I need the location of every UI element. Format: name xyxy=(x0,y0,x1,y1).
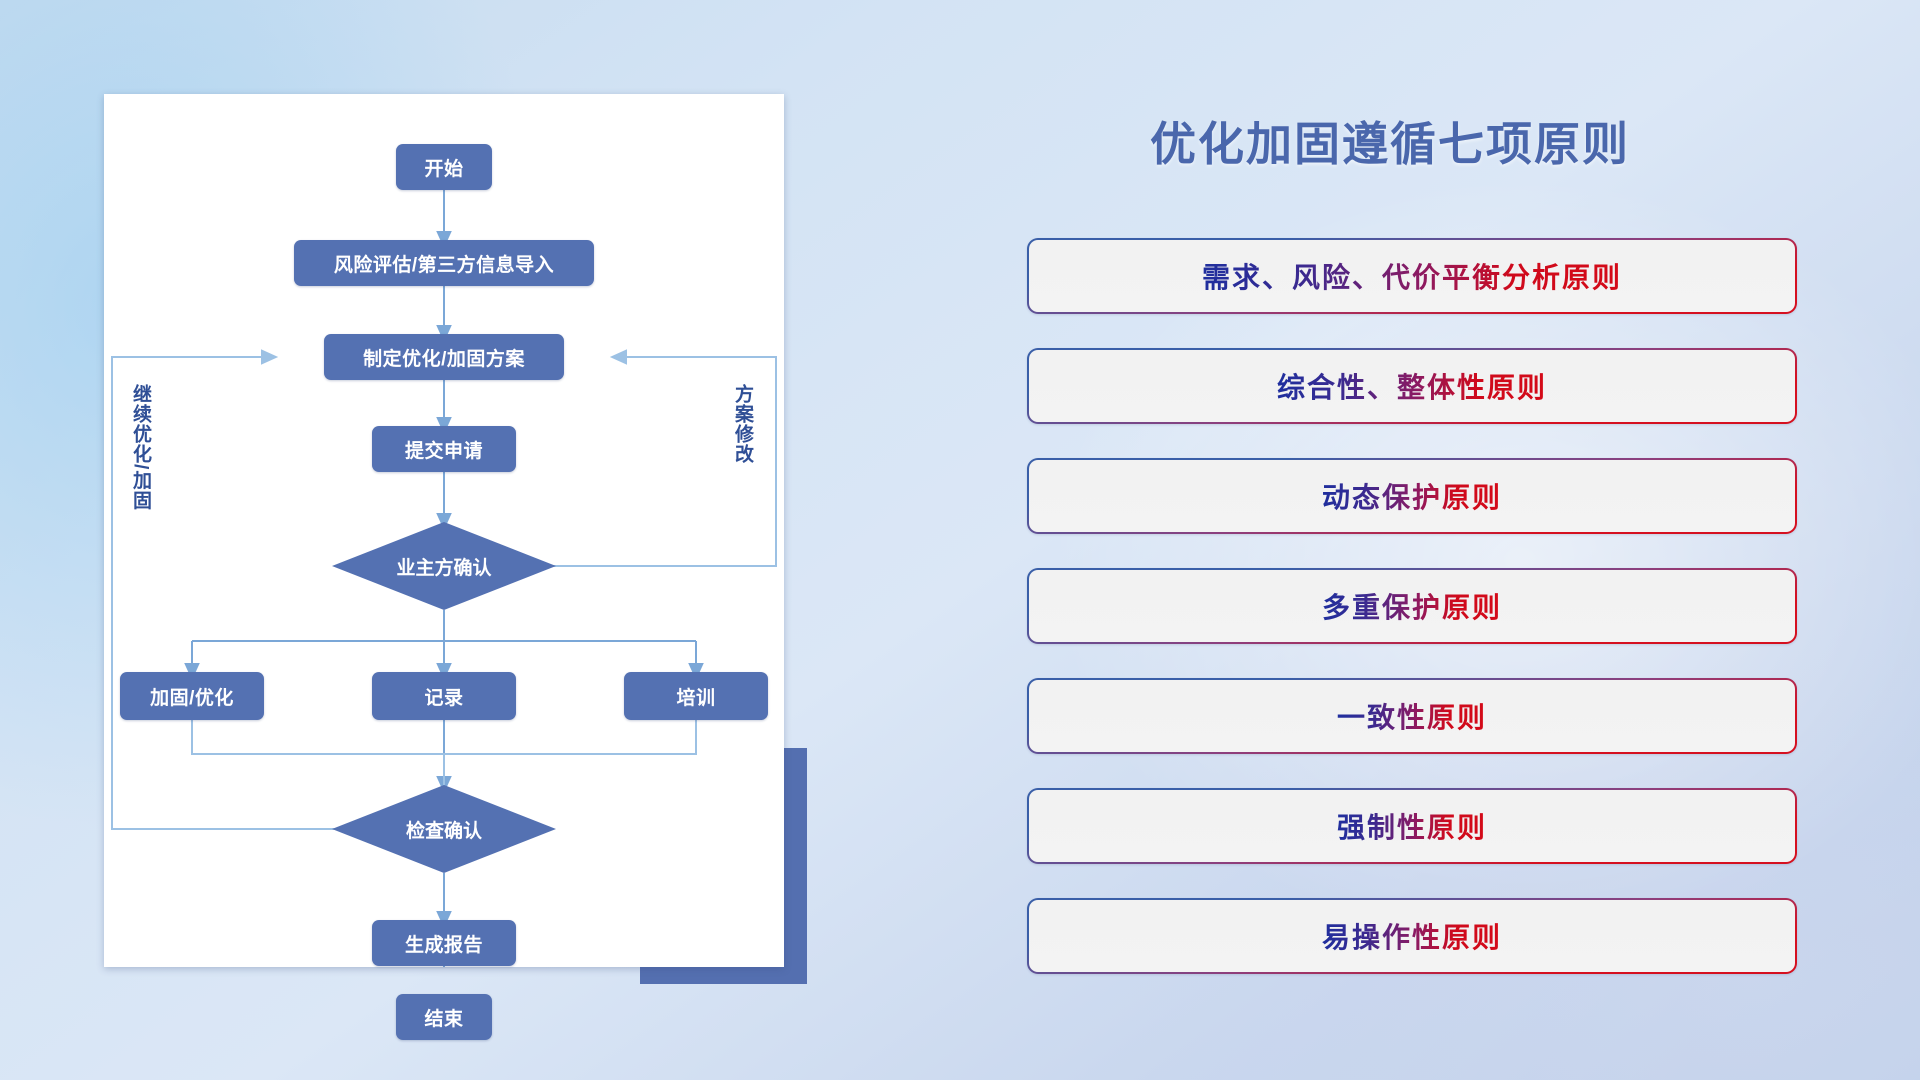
principle-label: 需求、风险、代价平衡分析原则 xyxy=(1202,256,1622,296)
principle-label: 多重保护原则 xyxy=(1322,586,1502,626)
principle-card-1[interactable]: 需求、风险、代价平衡分析原则 xyxy=(1027,238,1797,314)
flow-node-label: 培训 xyxy=(676,683,715,710)
flow-node-label: 结束 xyxy=(424,1004,463,1031)
flow-node-label: 记录 xyxy=(424,683,463,710)
principle-label: 易操作性原则 xyxy=(1322,916,1502,956)
page-title: 优化加固遵循七项原则 xyxy=(1150,108,1630,174)
principle-label: 一致性原则 xyxy=(1337,696,1487,736)
flow-node-label: 检查确认 xyxy=(406,816,482,843)
flowchart: 开始 风险评估/第三方信息导入 制定优化/加固方案 提交申请 业主方确认 加固/… xyxy=(104,94,784,967)
flow-node-check-confirm-label: 检查确认 xyxy=(332,785,556,873)
flow-node-training[interactable]: 培训 xyxy=(624,672,768,720)
flowchart-panel: 开始 风险评估/第三方信息导入 制定优化/加固方案 提交申请 业主方确认 加固/… xyxy=(104,94,784,967)
flow-node-risk-assessment[interactable]: 风险评估/第三方信息导入 xyxy=(294,240,594,286)
principle-card-2[interactable]: 综合性、整体性原则 xyxy=(1027,348,1797,424)
principle-card-4[interactable]: 多重保护原则 xyxy=(1027,568,1797,644)
principle-label: 综合性、整体性原则 xyxy=(1277,366,1547,406)
principle-label: 强制性原则 xyxy=(1337,806,1487,846)
flow-node-start[interactable]: 开始 xyxy=(396,144,492,190)
principle-card-5[interactable]: 一致性原则 xyxy=(1027,678,1797,754)
flow-node-label: 生成报告 xyxy=(405,930,483,957)
principle-card-7[interactable]: 易操作性原则 xyxy=(1027,898,1797,974)
flow-node-submit-application[interactable]: 提交申请 xyxy=(372,426,516,472)
principle-card-3[interactable]: 动态保护原则 xyxy=(1027,458,1797,534)
flow-node-label: 制定优化/加固方案 xyxy=(363,344,525,371)
flow-node-label: 风险评估/第三方信息导入 xyxy=(334,250,554,277)
flow-loop-label-plan-revision: 方案修改 xyxy=(732,384,752,464)
flow-node-reinforce-optimize[interactable]: 加固/优化 xyxy=(120,672,264,720)
principles-list: 需求、风险、代价平衡分析原则 综合性、整体性原则 动态保护原则 多重保护原则 一… xyxy=(1027,238,1797,1008)
flow-node-end[interactable]: 结束 xyxy=(396,994,492,1040)
flow-node-label: 加固/优化 xyxy=(150,683,234,710)
slide-canvas: 开始 风险评估/第三方信息导入 制定优化/加固方案 提交申请 业主方确认 加固/… xyxy=(0,0,1920,1080)
flow-node-owner-confirm-label: 业主方确认 xyxy=(332,522,556,610)
flow-node-record[interactable]: 记录 xyxy=(372,672,516,720)
flow-node-make-plan[interactable]: 制定优化/加固方案 xyxy=(324,334,564,380)
flow-loop-label-continue-optimize: 继续优化/加固 xyxy=(130,384,150,510)
flow-node-label: 业主方确认 xyxy=(396,553,491,580)
flow-node-label: 提交申请 xyxy=(405,436,483,463)
flow-node-label: 开始 xyxy=(424,154,463,181)
principle-card-6[interactable]: 强制性原则 xyxy=(1027,788,1797,864)
principle-label: 动态保护原则 xyxy=(1322,476,1502,516)
flow-node-generate-report[interactable]: 生成报告 xyxy=(372,920,516,966)
